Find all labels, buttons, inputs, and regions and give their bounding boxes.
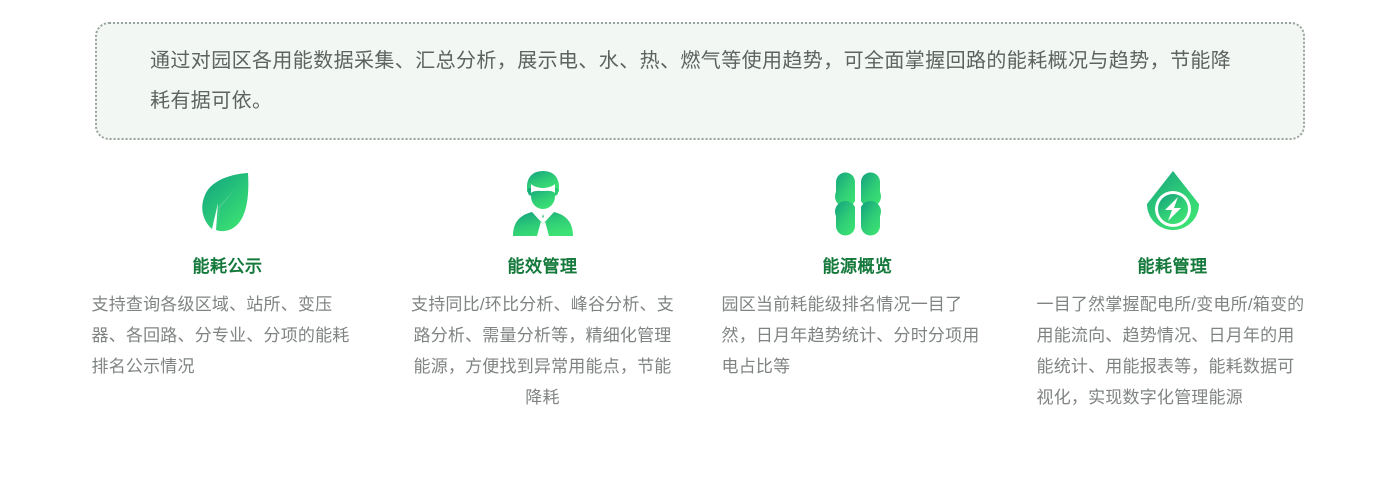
feature-card-efficiency-management[interactable]: 能效管理 支持同比/环比分析、峰谷分析、支路分析、需量分析等，精细化管理能源，方… [385,168,700,413]
intro-banner-text: 通过对园区各用能数据采集、汇总分析，展示电、水、热、燃气等使用趋势，可全面掌握回… [97,41,1303,121]
water-drop-energy-icon [1137,168,1209,240]
feature-description: 支持查询各级区域、站所、变压器、各回路、分专业、分项的能耗排名公示情况 [92,289,364,382]
feature-card-energy-overview[interactable]: 能源概览 园区当前耗能级排名情况一目了然，日月年趋势统计、分时分项用电占比等 [700,168,1015,382]
feature-title: 能耗管理 [1138,252,1208,277]
feature-description: 支持同比/环比分析、峰谷分析、支路分析、需量分析等，精细化管理能源，方便找到异常… [407,289,679,413]
feature-card-energy-consumption-management[interactable]: 能耗管理 一目了然掌握配电所/变电所/箱变的用能流向、趋势情况、日月年的用能统计… [1015,168,1330,413]
feature-description: 园区当前耗能级排名情况一目了然，日月年趋势统计、分时分项用电占比等 [722,289,994,382]
feature-title: 能源概览 [823,252,893,277]
feature-title: 能耗公示 [193,252,263,277]
person-suit-icon [507,168,579,240]
feature-card-energy-disclosure[interactable]: 能耗公示 支持查询各级区域、站所、变压器、各回路、分专业、分项的能耗排名公示情况 [70,168,385,382]
leaf-icon [192,168,264,240]
feature-list: 能耗公示 支持查询各级区域、站所、变压器、各回路、分专业、分项的能耗排名公示情况 [0,168,1400,413]
feature-title: 能效管理 [508,252,578,277]
four-petal-clover-icon [822,168,894,240]
feature-description: 一目了然掌握配电所/变电所/箱变的用能流向、趋势情况、日月年的用能统计、用能报表… [1037,289,1309,413]
intro-banner: 通过对园区各用能数据采集、汇总分析，展示电、水、热、燃气等使用趋势，可全面掌握回… [95,22,1305,140]
